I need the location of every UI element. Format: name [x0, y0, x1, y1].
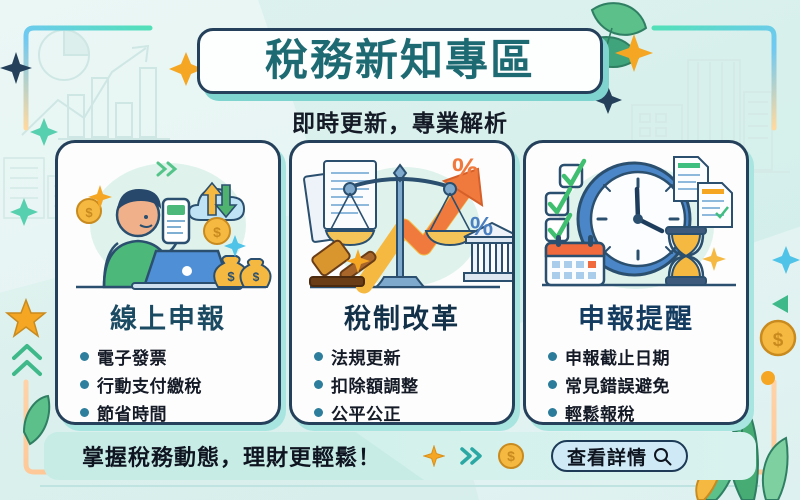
bullet-label: 公平公正 — [331, 400, 401, 425]
bullet-dot-icon — [80, 408, 89, 417]
page-title-box: 稅務新知專區 — [197, 28, 603, 94]
bullet-label: 電子發票 — [97, 344, 167, 369]
list-item: 節省時間 — [80, 400, 278, 425]
list-item: 常見錯誤避免 — [548, 372, 746, 397]
smartphone-icon — [163, 199, 189, 243]
infographic-canvas: $ 稅務新知專區 即時更新，專業解析 — [0, 0, 800, 500]
card-title: 申報提醒 — [526, 297, 746, 336]
bullet-dot-icon — [80, 352, 89, 361]
money-bags-icon: $ $ — [214, 256, 270, 287]
card-tax-reform[interactable]: % % 稅制改革 法規更新 扣除額調整 公平公正 — [289, 140, 515, 425]
footer-icon-group: $ — [423, 442, 525, 470]
bullet-dot-icon — [314, 352, 323, 361]
footer-bar: 掌握稅務動態，理財更輕鬆！ $ 查看詳情 — [44, 432, 756, 480]
svg-text:$: $ — [213, 224, 221, 240]
search-icon — [653, 447, 672, 466]
bullet-dot-icon — [548, 380, 557, 389]
list-item: 行動支付繳稅 — [80, 372, 278, 397]
bullet-label: 法規更新 — [331, 344, 401, 369]
pie-chart-outline — [39, 30, 89, 80]
coin-icon: $ — [497, 442, 525, 470]
card-title: 稅制改革 — [292, 297, 512, 336]
calendar-icon — [546, 235, 604, 285]
bullet-dot-icon — [314, 408, 323, 417]
bullet-dot-icon — [548, 408, 557, 417]
card-bullet-list: 電子發票 行動支付繳稅 節省時間 — [58, 344, 278, 425]
list-item: 申報截止日期 — [548, 344, 746, 369]
online-filing-illustration: $ $ $ $ — [58, 143, 278, 295]
bullet-dot-icon — [314, 380, 323, 389]
coin-icon-right: $ — [204, 218, 230, 244]
bullet-label: 輕鬆報稅 — [565, 400, 635, 425]
view-details-label: 查看詳情 — [567, 443, 647, 470]
card-bullet-list: 申報截止日期 常見錯誤避免 輕鬆報稅 — [526, 344, 746, 425]
double-chevron-icon — [458, 446, 484, 466]
card-bullet-list: 法規更新 扣除額調整 公平公正 — [292, 344, 512, 425]
list-item: 扣除額調整 — [314, 372, 512, 397]
sparkle-icon — [423, 445, 445, 467]
svg-text:$: $ — [507, 448, 515, 464]
bullet-label: 扣除額調整 — [331, 372, 419, 397]
card-row: $ $ $ $ — [0, 140, 800, 425]
percent-symbol-blue: % — [470, 211, 493, 241]
tax-reform-illustration: % % — [292, 143, 512, 295]
percent-symbol-orange: % — [452, 153, 479, 186]
svg-text:$: $ — [227, 269, 235, 284]
footer-slogan: 掌握稅務動態，理財更輕鬆！ — [82, 440, 381, 472]
view-details-button[interactable]: 查看詳情 — [551, 440, 688, 472]
svg-text:$: $ — [85, 205, 93, 220]
card-filing-reminder[interactable]: 申報提醒 申報截止日期 常見錯誤避免 輕鬆報稅 — [523, 140, 749, 425]
card-online-filing[interactable]: $ $ $ $ — [55, 140, 281, 425]
page-subtitle: 即時更新，專業解析 — [0, 104, 800, 138]
bullet-label: 節省時間 — [97, 400, 167, 425]
filing-reminder-illustration — [526, 143, 746, 295]
bullet-label: 申報截止日期 — [565, 344, 670, 369]
list-item: 電子發票 — [80, 344, 278, 369]
bullet-label: 行動支付繳稅 — [97, 372, 202, 397]
bullet-dot-icon — [548, 352, 557, 361]
list-item: 輕鬆報稅 — [548, 400, 746, 425]
bullet-dot-icon — [80, 380, 89, 389]
svg-text:$: $ — [253, 270, 260, 284]
card-title: 線上申報 — [58, 297, 278, 336]
coin-icon-left: $ — [77, 199, 101, 223]
list-item: 公平公正 — [314, 400, 512, 425]
bullet-label: 常見錯誤避免 — [565, 372, 670, 397]
page-title: 稅務新知專區 — [265, 40, 535, 83]
list-item: 法規更新 — [314, 344, 512, 369]
